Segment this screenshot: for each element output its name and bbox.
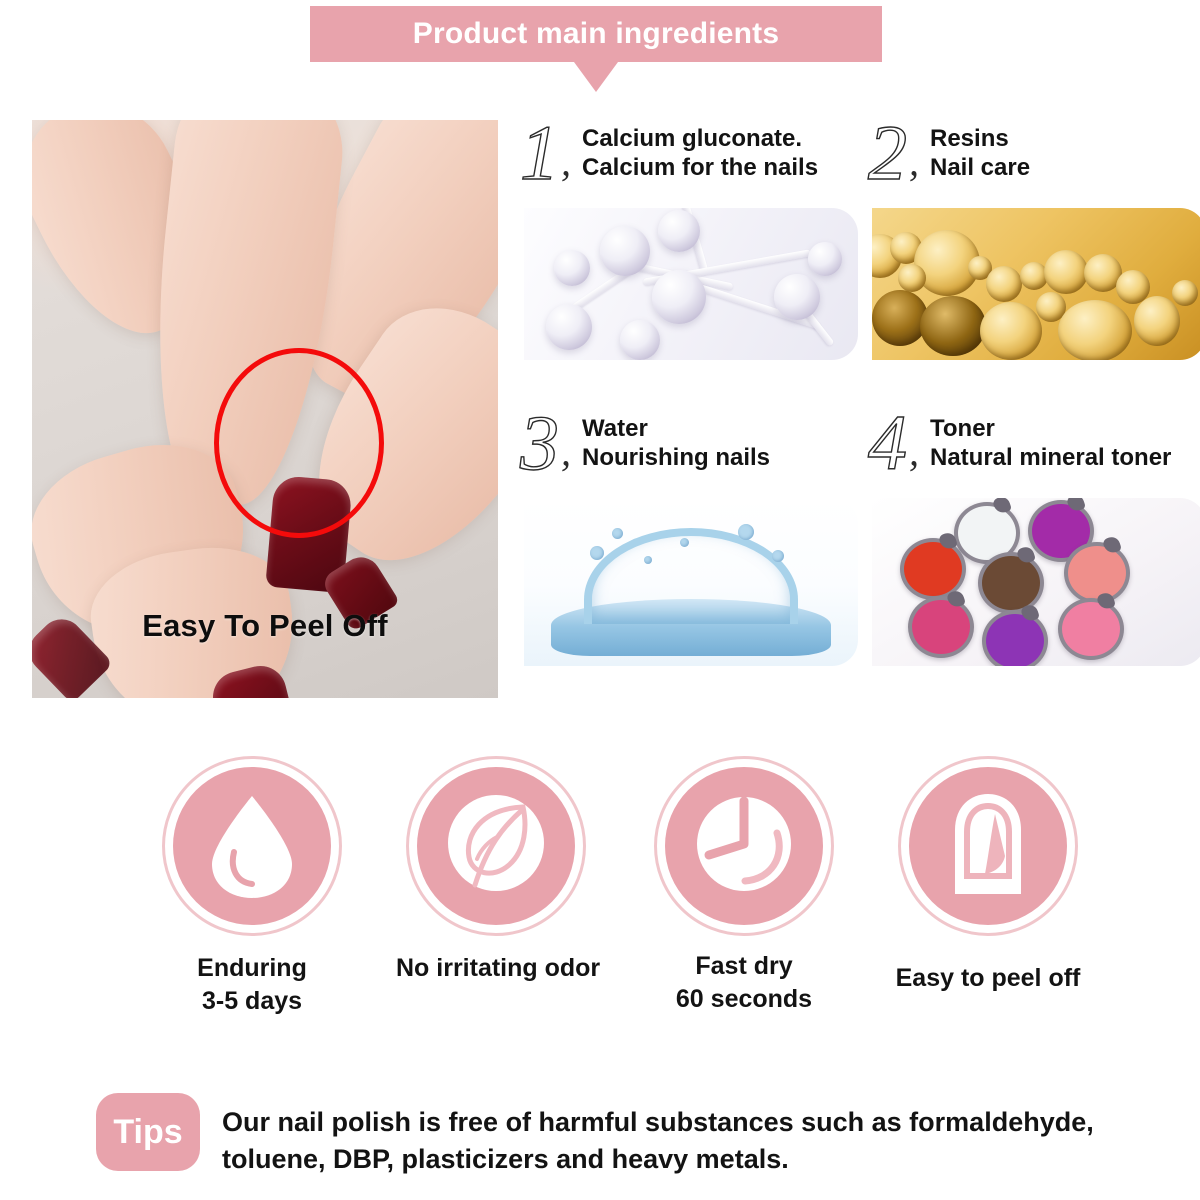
ingredient-text: Toner Natural mineral toner xyxy=(930,414,1200,473)
tips-badge-label: Tips xyxy=(113,1113,182,1152)
feature-circle-ring xyxy=(406,756,586,936)
feature-disc xyxy=(173,767,331,925)
pigment-dish-magenta xyxy=(908,596,974,658)
feature-no-odor: No irritating odor xyxy=(396,756,596,985)
red-highlight-circle xyxy=(214,348,384,538)
tips-badge: Tips xyxy=(96,1093,200,1171)
ingredient-number: 3 xyxy=(520,404,559,482)
water-droplet xyxy=(644,556,652,564)
clock-icon xyxy=(679,781,809,911)
pigment-dish-violet xyxy=(982,610,1048,666)
feature-label-line-2: 3-5 days xyxy=(152,985,352,1018)
feature-label-line-1: Enduring xyxy=(152,952,352,985)
ingredient-card-2: 2 Resins Nail care xyxy=(868,118,1200,204)
water-droplet xyxy=(590,546,604,560)
ingredient-number: 4 xyxy=(868,404,907,482)
molecule-atom xyxy=(546,304,592,350)
feature-fast-dry: Fast dry 60 seconds xyxy=(644,756,844,1015)
hero-nail-photo: Easy To Peel Off xyxy=(32,120,498,698)
hero-caption: Easy To Peel Off xyxy=(32,608,498,644)
ingredient-heading: 2 Resins Nail care xyxy=(868,118,1200,204)
resin-photo xyxy=(872,208,1200,360)
feature-label-line-1: No irritating odor xyxy=(396,952,596,985)
water-droplet xyxy=(612,528,623,539)
feature-circle-ring xyxy=(898,756,1078,936)
feature-label-line-1: Fast dry xyxy=(644,950,844,983)
ingredient-heading: 4 Toner Natural mineral toner xyxy=(868,408,1200,494)
molecule-atom xyxy=(808,242,842,276)
molecule-atom xyxy=(774,274,820,320)
resin-bubble xyxy=(1172,280,1198,306)
ingredient-text: Resins Nail care xyxy=(930,124,1200,183)
pigment-dish-salmon xyxy=(1064,542,1130,604)
ingredient-card-3: 3 Water Nourishing nails xyxy=(520,408,865,494)
molecule-photo xyxy=(524,208,858,360)
ingredient-line-1: Water xyxy=(582,414,879,443)
resin-bubble xyxy=(1044,250,1088,294)
feature-label-line-2: 60 seconds xyxy=(644,983,844,1016)
ingredient-line-2: Natural mineral toner xyxy=(930,443,1200,472)
leaf-icon xyxy=(431,781,561,911)
ingredient-card-4: 4 Toner Natural mineral toner xyxy=(868,408,1200,494)
ingredient-number: 2 xyxy=(868,114,907,192)
ingredient-number: 1 xyxy=(520,114,559,192)
tips-text: Our nail polish is free of harmful subst… xyxy=(222,1104,1162,1179)
page-title: Product main ingredients xyxy=(413,17,780,51)
ingredient-line-1: Resins xyxy=(930,124,1200,153)
tips-line-2: toluene, DBP, plasticizers and heavy met… xyxy=(222,1141,1162,1178)
banner-tail-triangle xyxy=(574,62,618,92)
ingredient-line-1: Toner xyxy=(930,414,1200,443)
feature-disc xyxy=(417,767,575,925)
water-droplet xyxy=(738,524,754,540)
ingredient-line-2: Nail care xyxy=(930,153,1200,182)
water-droplet xyxy=(772,550,784,562)
feature-label: Fast dry 60 seconds xyxy=(644,950,844,1015)
resin-bubble xyxy=(872,290,928,346)
ingredient-text: Calcium gluconate. Calcium for the nails xyxy=(582,124,879,183)
molecule-atom xyxy=(658,210,700,252)
ingredient-heading: 1 Calcium gluconate. Calcium for the nai… xyxy=(520,118,865,204)
feature-label-line-1: Easy to peel off xyxy=(888,962,1088,995)
toner-photo xyxy=(872,498,1200,666)
header-banner: Product main ingredients xyxy=(310,6,882,62)
resin-bubble xyxy=(898,264,926,292)
molecule-atom xyxy=(600,226,650,276)
ingredient-heading: 3 Water Nourishing nails xyxy=(520,408,865,494)
feature-disc xyxy=(909,767,1067,925)
water-drop-icon xyxy=(204,790,300,902)
feature-label: No irritating odor xyxy=(396,952,596,985)
water-photo xyxy=(524,498,858,666)
feature-disc xyxy=(665,767,823,925)
feature-easy-peel: Easy to peel off xyxy=(888,756,1088,995)
resin-bubble xyxy=(986,266,1022,302)
ingredient-line-2: Nourishing nails xyxy=(582,443,879,472)
tips-line-1: Our nail polish is free of harmful subst… xyxy=(222,1104,1162,1141)
feature-label: Easy to peel off xyxy=(888,962,1088,995)
resin-bubble xyxy=(1058,300,1132,360)
molecule-atom xyxy=(554,250,590,286)
ingredient-line-1: Calcium gluconate. xyxy=(582,124,879,153)
feature-enduring: Enduring 3-5 days xyxy=(152,756,352,1017)
ingredient-line-2: Calcium for the nails xyxy=(582,153,879,182)
resin-bubble xyxy=(980,302,1042,360)
ingredient-text: Water Nourishing nails xyxy=(582,414,879,473)
feature-circle-ring xyxy=(654,756,834,936)
nail-peel-icon xyxy=(933,786,1043,906)
pigment-dish-pink xyxy=(1058,598,1124,660)
ingredient-card-1: 1 Calcium gluconate. Calcium for the nai… xyxy=(520,118,865,204)
water-droplet xyxy=(680,538,689,547)
feature-label: Enduring 3-5 days xyxy=(152,952,352,1017)
molecule-atom xyxy=(620,320,660,360)
feature-circle-ring xyxy=(162,756,342,936)
pigment-dish-brown xyxy=(978,552,1044,614)
molecule-atom xyxy=(652,270,706,324)
resin-bubble xyxy=(920,296,986,356)
resin-bubble xyxy=(1134,296,1180,346)
